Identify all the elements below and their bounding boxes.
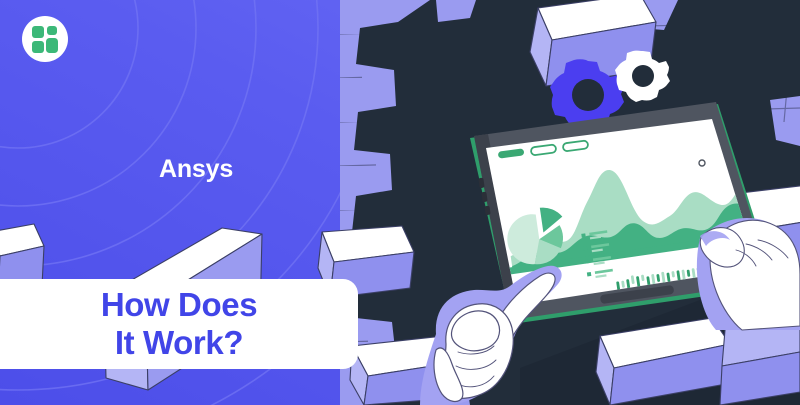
brand-name: Ansys <box>159 157 233 182</box>
title-card: How Does It Work? <box>0 279 358 369</box>
logo-tile-3 <box>32 41 44 53</box>
app-grid-logo[interactable] <box>22 16 68 62</box>
page-title: How Does It Work? <box>0 279 358 369</box>
banner-canvas: Ansys How Does It Work? <box>0 0 800 405</box>
logo-tile-4 <box>46 38 58 53</box>
logo-tile-1 <box>32 26 44 39</box>
logo-tile-2 <box>47 26 57 36</box>
hand-holding <box>697 218 800 330</box>
